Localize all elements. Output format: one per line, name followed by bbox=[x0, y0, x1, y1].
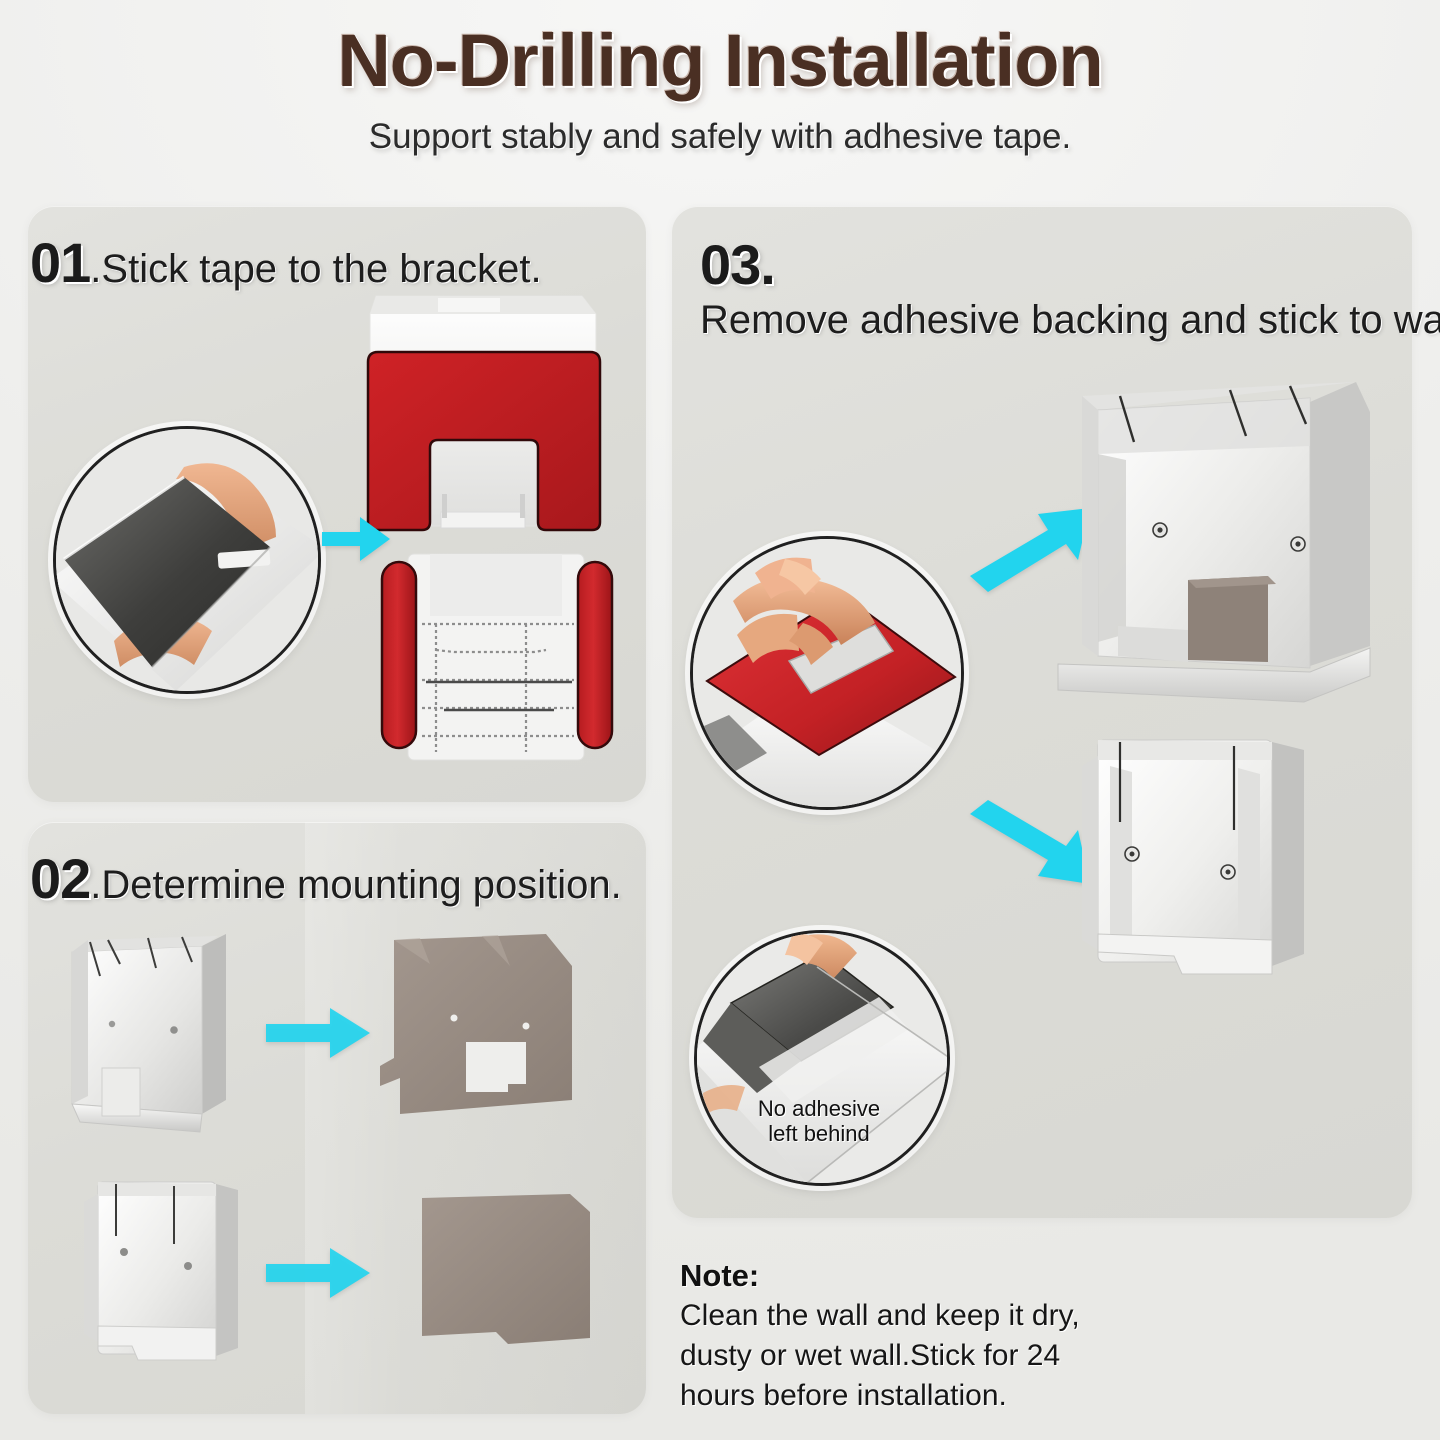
bracket-mounted-wall-top bbox=[1054, 372, 1394, 722]
bracket-with-red-tape-front bbox=[346, 290, 626, 540]
step-03-panel: No adhesive left behind bbox=[672, 206, 1412, 1218]
wall-position-silhouette-top bbox=[376, 926, 606, 1146]
step-01-text: .Stick tape to the bracket. bbox=[90, 247, 541, 291]
step-02-text: .Determine mounting position. bbox=[90, 863, 621, 907]
header: No-Drilling Installation Support stably … bbox=[0, 0, 1440, 185]
arrow-right-icon bbox=[264, 1244, 372, 1302]
note-body: Clean the wall and keep it dry, dusty or… bbox=[680, 1296, 1200, 1417]
page-title: No-Drilling Installation bbox=[0, 0, 1440, 103]
note-label: Note: bbox=[680, 1258, 1200, 1294]
step-02-number: 02 bbox=[30, 847, 90, 910]
page-subtitle: Support stably and safely with adhesive … bbox=[0, 103, 1440, 157]
arrow-down-right-icon bbox=[966, 794, 1094, 890]
step-01-panel bbox=[28, 206, 646, 802]
wall-position-silhouette-bottom bbox=[412, 1188, 612, 1368]
detail-circle-no-residue bbox=[694, 930, 950, 1186]
step-03-heading: 03. Remove adhesive backing and stick to… bbox=[700, 232, 1440, 344]
detail-circle-peel-red-tape bbox=[690, 536, 964, 810]
arrow-right-icon bbox=[264, 1004, 372, 1062]
note-block: Note: Clean the wall and keep it dry, du… bbox=[680, 1258, 1200, 1417]
step-01-number: 01 bbox=[30, 231, 90, 294]
step-03-text: Remove adhesive backing and stick to wal… bbox=[700, 297, 1440, 344]
step-01-heading: 01.Stick tape to the bracket. bbox=[30, 230, 542, 295]
detail-circle-peel-backing bbox=[53, 426, 321, 694]
no-adhesive-caption: No adhesive left behind bbox=[712, 1096, 926, 1147]
step-02-heading: 02.Determine mounting position. bbox=[30, 846, 622, 911]
arrow-right-icon bbox=[320, 512, 392, 566]
bracket-with-red-side-strips bbox=[364, 540, 632, 780]
step-03-number: 03. bbox=[700, 232, 1440, 297]
bracket-mounted-wall-bottom bbox=[1076, 726, 1336, 996]
